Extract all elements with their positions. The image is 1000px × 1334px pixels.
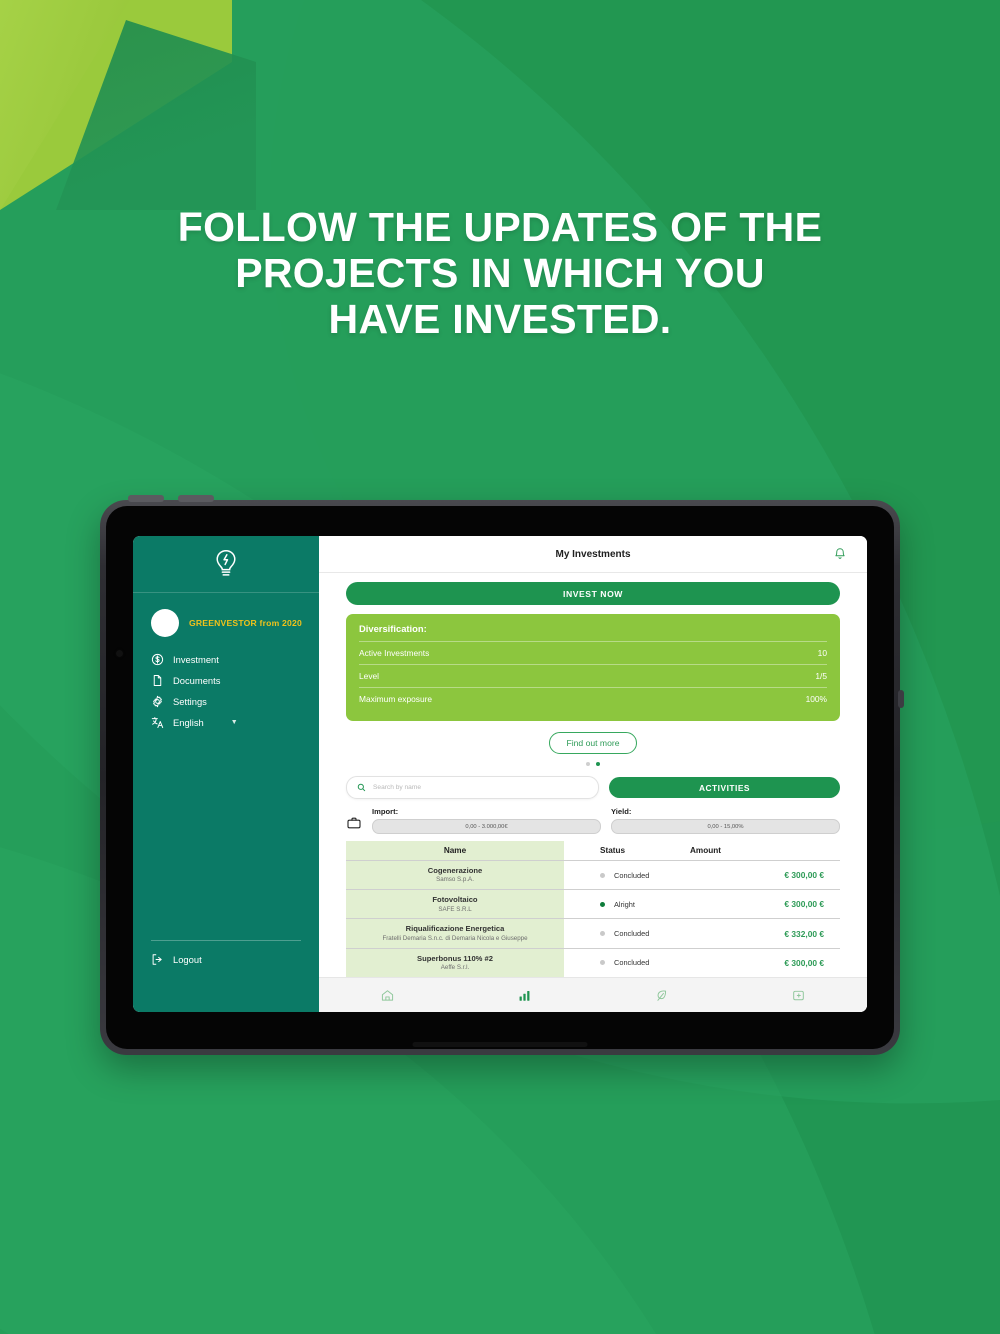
sidebar-divider [151, 940, 301, 941]
table-row[interactable]: Cogenerazione Samso S.p.A. Concluded € 3… [346, 861, 840, 890]
status-badge [600, 931, 605, 936]
filter-import-label: Import: [372, 807, 601, 816]
bar-chart-icon [517, 988, 532, 1003]
row-name-cell: Superbonus 110% #2 Aeffe S.r.l. [346, 949, 564, 977]
row-name-cell: Riqualificazione Energetica Fratelli Dem… [346, 919, 564, 947]
sidebar-logo[interactable] [133, 536, 319, 593]
sidebar-item-documents[interactable]: Documents [151, 674, 319, 687]
sidebar-item-label: English [173, 717, 204, 728]
invest-now-button[interactable]: INVEST NOW [346, 582, 840, 605]
row-amount-cell: € 332,00 € [674, 919, 840, 947]
diversification-row: Maximum exposure 100% [359, 687, 827, 710]
app-screen: GREENVESTOR from 2020 Investment [133, 536, 867, 1012]
sidebar-item-language[interactable]: English ▼ [151, 716, 319, 729]
row-name-cell: Fotovoltaico SAFE S.R.L [346, 890, 564, 918]
gear-icon [151, 695, 164, 708]
carousel-dots [346, 762, 840, 766]
logout-icon [151, 953, 164, 966]
sidebar-username: GREENVESTOR from 2020 [189, 618, 302, 628]
headline-line-1: FOLLOW THE UPDATES OF THE [0, 205, 1000, 251]
row-status-text: Concluded [614, 871, 649, 880]
corner-fold-decoration [0, 0, 240, 210]
power-button[interactable] [898, 690, 904, 708]
nav-item-home[interactable] [319, 988, 456, 1003]
promo-headline: FOLLOW THE UPDATES OF THE PROJECTS IN WH… [0, 205, 1000, 343]
sidebar-item-settings[interactable]: Settings [151, 695, 319, 708]
filter-import-slider[interactable]: 0,00 - 3.000,00€ [372, 819, 601, 834]
search-icon [357, 779, 366, 797]
headline-line-2: PROJECTS IN WHICH YOU [0, 251, 1000, 297]
logout-label: Logout [173, 954, 202, 965]
row-label: Level [359, 671, 379, 681]
avatar [151, 609, 179, 637]
row-value: 10 [818, 648, 827, 658]
filter-import: Import: 0,00 - 3.000,00€ [372, 807, 601, 834]
document-icon [151, 674, 164, 687]
row-amount-cell: € 300,00 € [674, 949, 840, 977]
lightbulb-bolt-logo-icon [213, 549, 239, 579]
translate-icon [151, 716, 164, 729]
row-project-name: Superbonus 110% #2 [417, 954, 493, 963]
sidebar-item-label: Investment [173, 654, 219, 665]
table-row[interactable]: Superbonus 110% #2 Aeffe S.r.l. Conclude… [346, 949, 840, 977]
search-input[interactable]: Search by name [346, 776, 599, 799]
tablet-device-mockup: GREENVESTOR from 2020 Investment [100, 500, 900, 1055]
row-status-text: Concluded [614, 929, 649, 938]
sidebar: GREENVESTOR from 2020 Investment [133, 536, 319, 1012]
table-row[interactable]: Fotovoltaico SAFE S.R.L Alright € 300,00… [346, 890, 840, 919]
volume-down-button[interactable] [178, 495, 214, 502]
status-badge [600, 873, 605, 878]
diversification-row: Level 1/5 [359, 664, 827, 687]
nav-item-wallet[interactable] [730, 988, 867, 1003]
row-name-cell: Cogenerazione Samso S.p.A. [346, 861, 564, 889]
status-badge [600, 960, 605, 965]
row-status-text: Alright [614, 900, 635, 909]
row-label: Maximum exposure [359, 694, 432, 704]
sidebar-item-label: Documents [173, 675, 220, 686]
sidebar-nav: Investment Documents [133, 651, 319, 729]
diversification-card: Diversification: Active Investments 10 L… [346, 614, 840, 721]
chevron-down-icon[interactable]: ▼ [231, 719, 238, 726]
filter-yield: Yield: 0,00 - 15,00% [611, 807, 840, 834]
nav-item-investments[interactable] [456, 988, 593, 1003]
filter-row: Import: 0,00 - 3.000,00€ Yield: 0,00 - 1… [346, 807, 840, 834]
sidebar-item-label: Settings [173, 696, 207, 707]
wallet-card-icon [791, 988, 806, 1003]
row-label: Active Investments [359, 648, 429, 658]
row-company-name: Fratelli Demaria S.n.c. di Demaria Nicol… [382, 935, 527, 943]
row-status-text: Concluded [614, 958, 649, 967]
row-amount-cell: € 300,00 € [674, 890, 840, 918]
table-header-row: Name Status Amount [346, 841, 840, 861]
diversification-title: Diversification: [359, 623, 827, 634]
row-value: 100% [806, 694, 827, 704]
sidebar-spacer [133, 729, 319, 940]
row-amount-cell: € 300,00 € [674, 861, 840, 889]
row-value: 1/5 [815, 671, 827, 681]
diversification-row: Active Investments 10 [359, 641, 827, 664]
header-label: Name [444, 846, 466, 855]
bottom-navigation [319, 977, 867, 1012]
briefcase-icon [346, 815, 362, 831]
search-row: Search by name ACTIVITIES [346, 776, 840, 799]
row-status-cell: Concluded [564, 861, 674, 889]
row-project-name: Riqualificazione Energetica [406, 924, 505, 933]
row-company-name: Samso S.p.A. [436, 876, 474, 884]
headline-line-3: HAVE INVESTED. [0, 297, 1000, 343]
activities-button[interactable]: ACTIVITIES [609, 777, 840, 798]
app-topbar: My Investments [319, 536, 867, 573]
main-content: INVEST NOW Diversification: Active Inves… [319, 573, 867, 977]
front-camera-icon [116, 650, 123, 657]
search-placeholder: Search by name [373, 784, 421, 791]
filter-yield-value: 0,00 - 15,00% [707, 824, 743, 830]
column-header-amount[interactable]: Amount [690, 841, 840, 860]
row-company-name: Aeffe S.r.l. [441, 964, 469, 972]
logout-button[interactable]: Logout [151, 953, 301, 966]
row-company-name: SAFE S.R.L [438, 906, 471, 914]
main-panel: My Investments INVEST NOW Diversificatio… [319, 536, 867, 1012]
sidebar-item-investment[interactable]: Investment [151, 653, 319, 666]
filter-import-value: 0,00 - 3.000,00€ [465, 824, 507, 830]
page-title: My Investments [555, 549, 630, 560]
home-indicator [413, 1042, 588, 1047]
carousel-dot-active[interactable] [596, 762, 600, 766]
row-project-name: Cogenerazione [428, 866, 482, 875]
find-out-more-wrap: Find out more [346, 732, 840, 754]
filter-yield-label: Yield: [611, 807, 840, 816]
sidebar-footer: Logout [133, 940, 319, 966]
nav-item-green[interactable] [593, 988, 730, 1003]
filter-yield-slider[interactable]: 0,00 - 15,00% [611, 819, 840, 834]
promo-stage: FOLLOW THE UPDATES OF THE PROJECTS IN WH… [0, 0, 1000, 1334]
row-status-cell: Concluded [564, 919, 674, 947]
notification-bell-icon[interactable] [833, 547, 847, 561]
status-badge [600, 902, 605, 907]
column-header-status[interactable]: Status [564, 841, 690, 860]
table-row[interactable]: Riqualificazione Energetica Fratelli Dem… [346, 919, 840, 948]
volume-up-button[interactable] [128, 495, 164, 502]
home-icon [380, 988, 395, 1003]
row-project-name: Fotovoltaico [432, 895, 477, 904]
carousel-dot[interactable] [586, 762, 590, 766]
sidebar-user[interactable]: GREENVESTOR from 2020 [133, 593, 319, 651]
find-out-more-button[interactable]: Find out more [549, 732, 636, 754]
dollar-circle-icon [151, 653, 164, 666]
investments-table: Name Status Amount Cogenerazione Samso S… [346, 841, 840, 977]
row-status-cell: Alright [564, 890, 674, 918]
row-status-cell: Concluded [564, 949, 674, 977]
leaf-icon [654, 988, 669, 1003]
column-header-name[interactable]: Name [346, 841, 564, 860]
